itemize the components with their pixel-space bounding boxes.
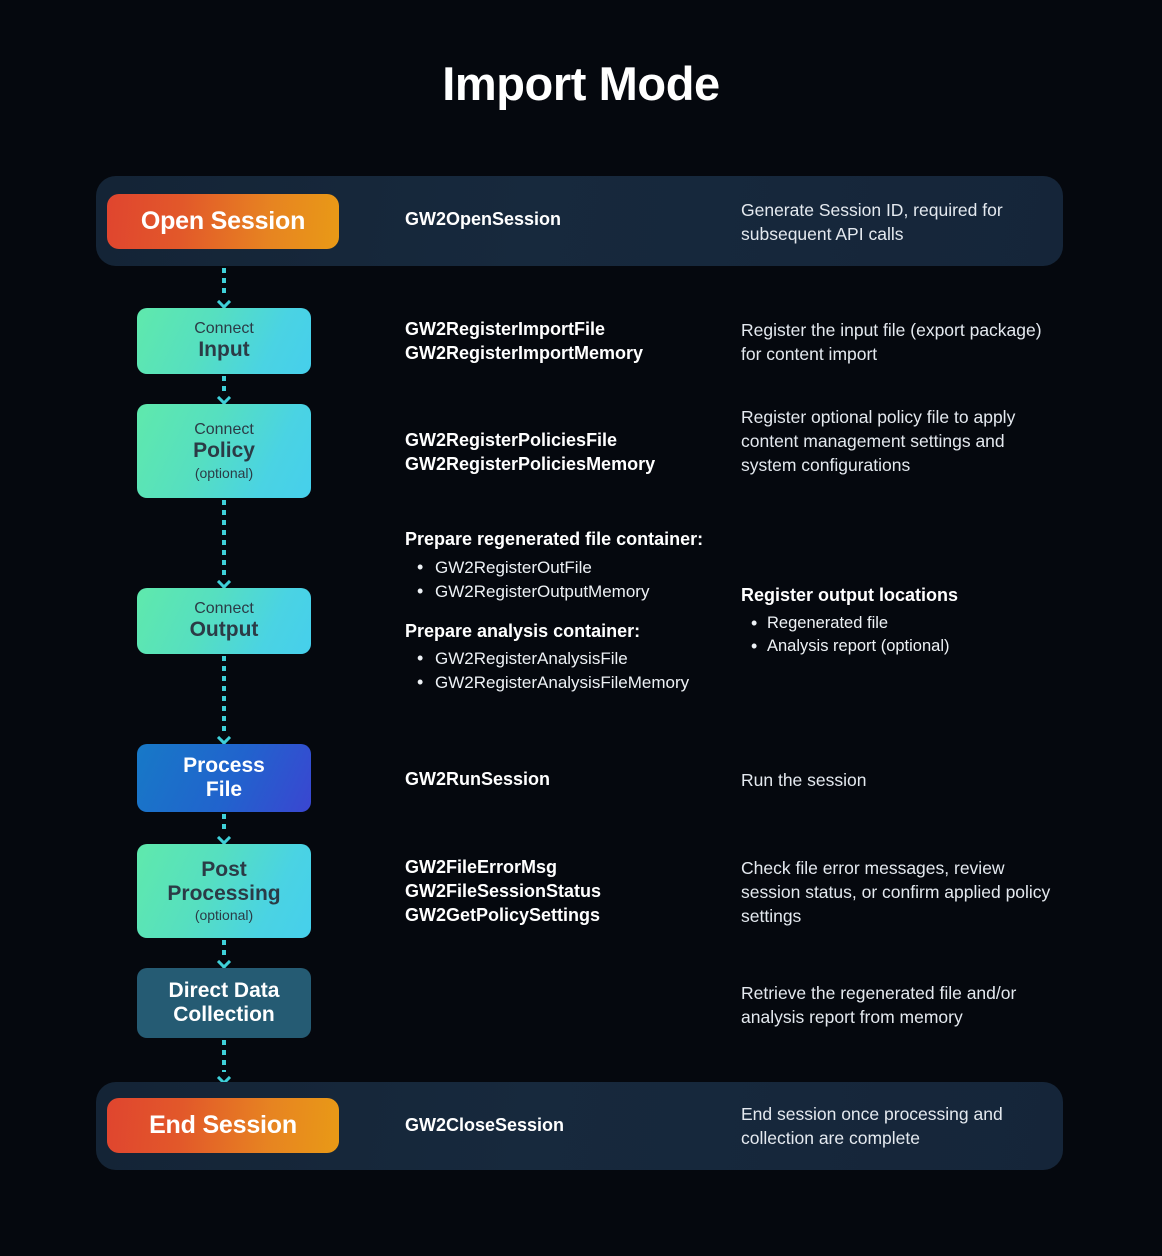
process-api-1: GW2RunSession: [405, 768, 725, 792]
policy-api-list: GW2RegisterPoliciesFile GW2RegisterPolic…: [405, 429, 725, 477]
open-session-description: Generate Session ID, required for subseq…: [741, 198, 1051, 246]
page-title: Import Mode: [0, 56, 1162, 111]
arrow-down-icon: [218, 393, 230, 402]
list-item: GW2RegisterAnalysisFile: [435, 647, 725, 671]
connector-dots: [222, 376, 226, 392]
stage-label-file: File: [206, 778, 242, 802]
end-session-pill[interactable]: End Session: [107, 1098, 339, 1153]
stage-box-process-file[interactable]: Process File: [137, 744, 311, 812]
open-session-pill[interactable]: Open Session: [107, 194, 339, 249]
input-api-2: GW2RegisterImportMemory: [405, 342, 725, 366]
stage-label-collection: Collection: [173, 1003, 275, 1027]
stage-box-direct-data-collection[interactable]: Direct Data Collection: [137, 968, 311, 1038]
stage-box-connect-policy[interactable]: Connect Policy (optional): [137, 404, 311, 498]
connector-open-to-input: [218, 268, 230, 306]
connector-dots: [222, 814, 226, 832]
end-session-description: End session once processing and collecti…: [741, 1102, 1051, 1150]
stage-label-connect: Connect: [194, 320, 254, 338]
connector-dots: [222, 940, 226, 956]
output-desc-heading: Register output locations: [741, 584, 1051, 607]
connector-output-to-process: [218, 656, 230, 742]
stage-box-connect-input[interactable]: Connect Input: [137, 308, 311, 374]
arrow-down-icon: [218, 577, 230, 586]
list-item: Regenerated file: [767, 612, 1051, 635]
stage-label-connect: Connect: [194, 600, 254, 618]
connector-post-to-direct: [218, 940, 230, 966]
end-session-api: GW2CloseSession: [405, 1114, 725, 1138]
stage-label-post: Post: [201, 858, 247, 882]
arrow-down-icon: [218, 297, 230, 306]
stage-label-process: Process: [183, 754, 265, 778]
post-api-3: GW2GetPolicySettings: [405, 904, 725, 928]
process-description: Run the session: [741, 768, 1051, 792]
arrow-down-icon: [218, 1073, 230, 1082]
post-api-list: GW2FileErrorMsg GW2FileSessionStatus GW2…: [405, 856, 725, 927]
open-session-api: GW2OpenSession: [405, 208, 725, 232]
output-description: Register output locations Regenerated fi…: [741, 584, 1051, 658]
post-description: Check file error messages, review sessio…: [741, 856, 1051, 928]
stage-label-output: Output: [190, 618, 259, 642]
connector-policy-to-output: [218, 500, 230, 586]
policy-description: Register optional policy file to apply c…: [741, 405, 1051, 477]
stage-label-processing: Processing: [167, 882, 280, 906]
input-api-list: GW2RegisterImportFile GW2RegisterImportM…: [405, 318, 725, 366]
stage-label-post-optional: (optional): [195, 907, 253, 924]
list-item: GW2RegisterOutFile: [435, 556, 725, 580]
list-item: Analysis report (optional): [767, 635, 1051, 658]
connector-dots: [222, 1040, 226, 1072]
connector-dots: [222, 500, 226, 576]
stage-label-input: Input: [198, 338, 249, 362]
arrow-down-icon: [218, 833, 230, 842]
direct-description: Retrieve the regenerated file and/or ana…: [741, 981, 1051, 1029]
stage-box-post-processing[interactable]: Post Processing (optional): [137, 844, 311, 938]
connector-process-to-post: [218, 814, 230, 842]
post-api-2: GW2FileSessionStatus: [405, 880, 725, 904]
connector-dots: [222, 656, 226, 732]
connector-dots: [222, 268, 226, 296]
post-api-1: GW2FileErrorMsg: [405, 856, 725, 880]
stage-label-policy: Policy: [193, 439, 255, 463]
output-desc-items: Regenerated file Analysis report (option…: [741, 612, 1051, 659]
connector-input-to-policy: [218, 376, 230, 402]
output-api-group2-heading: Prepare analysis container:: [405, 620, 725, 643]
list-item: GW2RegisterOutputMemory: [435, 580, 725, 604]
stage-label-direct-data: Direct Data: [169, 979, 280, 1003]
output-api-group1-items: GW2RegisterOutFile GW2RegisterOutputMemo…: [405, 556, 725, 604]
output-api-list: Prepare regenerated file container: GW2R…: [405, 528, 725, 696]
output-api-group2-items: GW2RegisterAnalysisFile GW2RegisterAnaly…: [405, 647, 725, 695]
policy-api-2: GW2RegisterPoliciesMemory: [405, 453, 725, 477]
connector-direct-to-end: [218, 1040, 230, 1082]
arrow-down-icon: [218, 957, 230, 966]
diagram-canvas: Import Mode Open Session GW2OpenSession …: [0, 0, 1162, 1256]
output-api-group1-heading: Prepare regenerated file container:: [405, 528, 725, 551]
stage-box-connect-output[interactable]: Connect Output: [137, 588, 311, 654]
list-item: GW2RegisterAnalysisFileMemory: [435, 671, 725, 695]
input-description: Register the input file (export package)…: [741, 318, 1051, 366]
arrow-down-icon: [218, 733, 230, 742]
stage-label-policy-optional: (optional): [195, 465, 253, 482]
process-api-list: GW2RunSession: [405, 768, 725, 792]
input-api-1: GW2RegisterImportFile: [405, 318, 725, 342]
stage-label-connect: Connect: [194, 421, 254, 439]
policy-api-1: GW2RegisterPoliciesFile: [405, 429, 725, 453]
